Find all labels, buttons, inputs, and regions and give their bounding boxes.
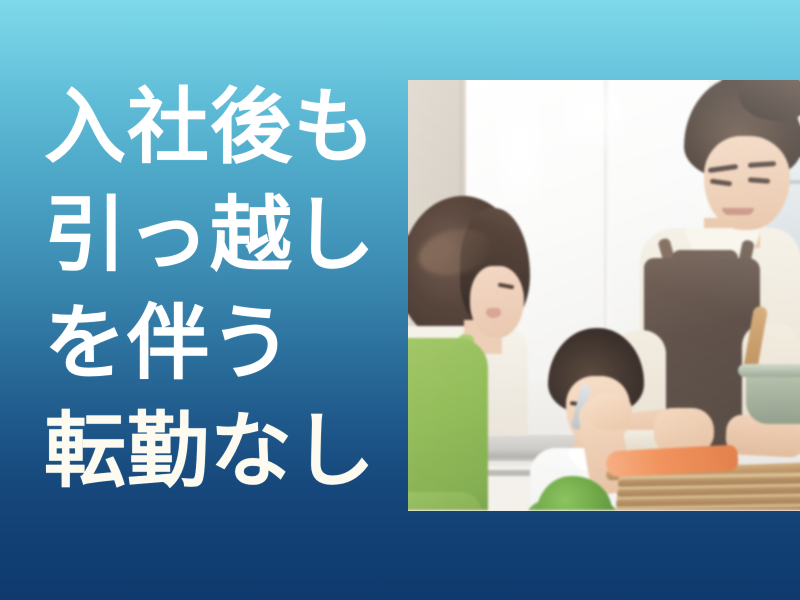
headline-line-3: を伴う	[44, 290, 384, 398]
photo-window-glare	[494, 86, 546, 206]
photo-counter-top	[408, 510, 800, 511]
photo-mother-apron-tie	[408, 492, 482, 511]
photo-mother-apron	[408, 338, 488, 511]
photo-trivet-slat	[617, 486, 800, 496]
headline-line-4: 転勤なし	[44, 398, 384, 506]
photo-mother-mouth	[486, 308, 501, 318]
photo-father-mouth	[722, 208, 754, 215]
recruitment-banner: 入社後も 引っ越し を伴う 転勤なし	[0, 0, 800, 600]
photo-mother-face	[470, 266, 524, 338]
photo-trivet-slat	[618, 476, 800, 486]
photo-wooden-trivet	[609, 472, 800, 511]
headline-block: 入社後も 引っ越し を伴う 転勤なし	[44, 74, 384, 506]
headline-line-2: 引っ越し	[44, 182, 384, 290]
headline-line-1: 入社後も	[44, 74, 384, 182]
photo-window-glare-secondary	[558, 80, 628, 150]
family-kitchen-photo	[408, 80, 800, 511]
photo-trivet-slat	[616, 496, 800, 506]
photo-child-hand	[588, 394, 632, 430]
photo-pot-rim	[738, 364, 800, 377]
